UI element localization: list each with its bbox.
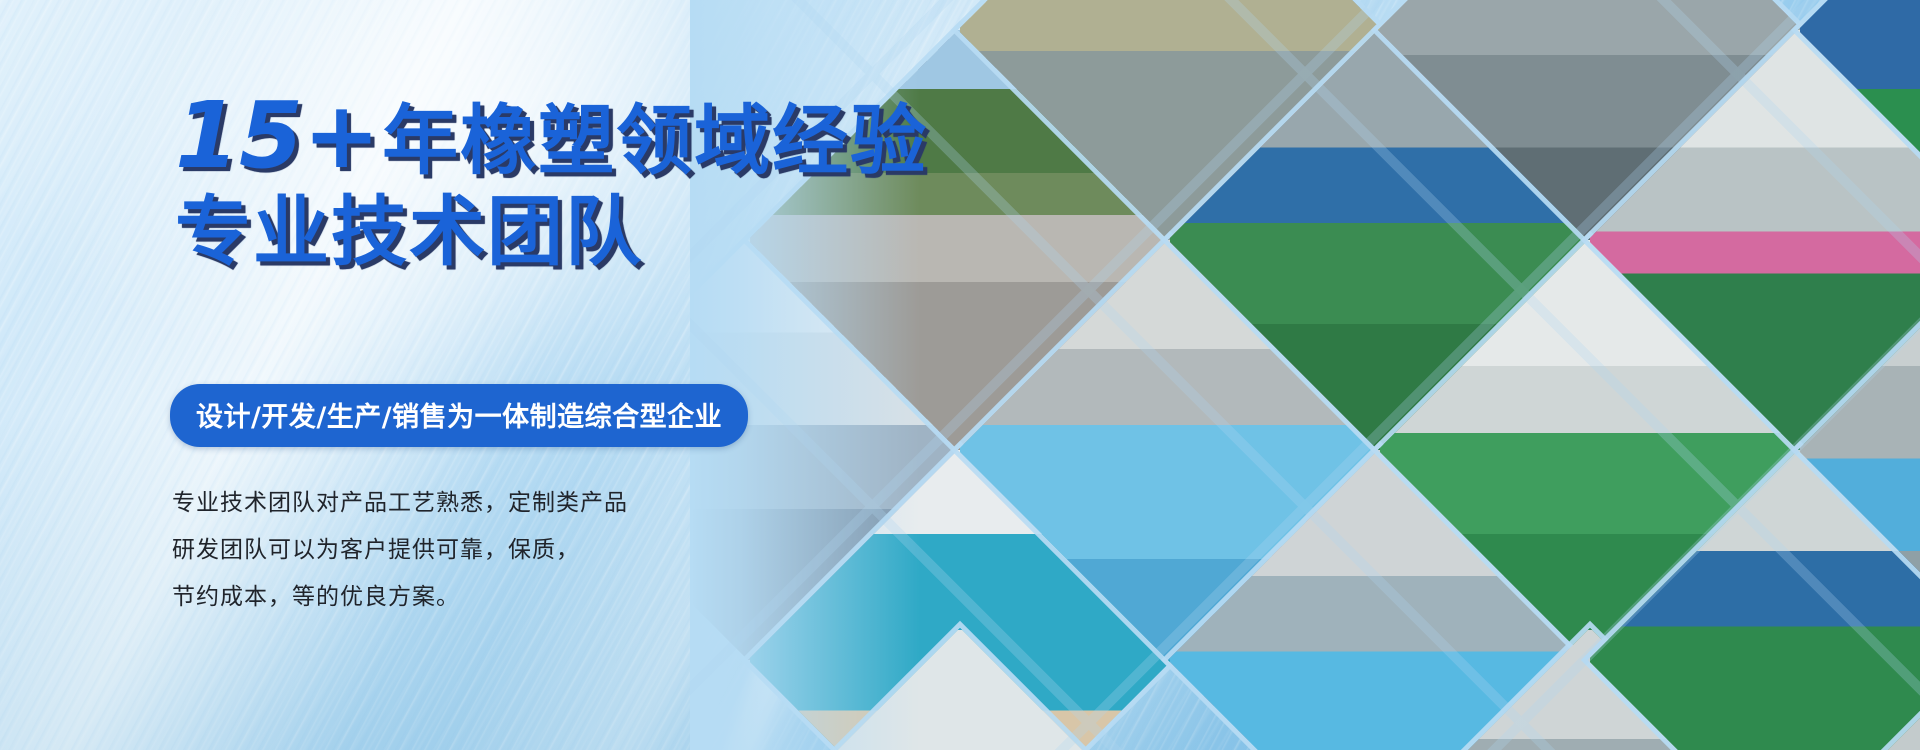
years-count: 15+ bbox=[175, 96, 380, 176]
description-line-1: 专业技术团队对产品工艺熟悉，定制类产品 bbox=[172, 480, 732, 527]
headline-line-1-text: 年橡塑领域经验 bbox=[382, 96, 928, 185]
tagline-pill-text: 设计/开发/生产/销售为一体制造综合型企业 bbox=[196, 402, 722, 433]
description-line-3: 节约成本，等的优良方案。 bbox=[172, 574, 732, 621]
headline-line-1: 15+年橡塑领域经验 bbox=[175, 96, 928, 181]
description-line-2: 研发团队可以为客户提供可靠，保质， bbox=[172, 527, 732, 574]
promo-banner: 15+年橡塑领域经验 专业技术团队 设计/开发/生产/销售为一体制造综合型企业 … bbox=[0, 0, 1920, 750]
description-paragraph: 专业技术团队对产品工艺熟悉，定制类产品 研发团队可以为客户提供可靠，保质， 节约… bbox=[172, 480, 732, 621]
banner-text-block: 15+年橡塑领域经验 专业技术团队 设计/开发/生产/销售为一体制造综合型企业 … bbox=[0, 0, 760, 750]
headline-line-2: 专业技术团队 bbox=[175, 192, 643, 272]
tagline-pill: 设计/开发/生产/销售为一体制造综合型企业 bbox=[170, 384, 748, 447]
